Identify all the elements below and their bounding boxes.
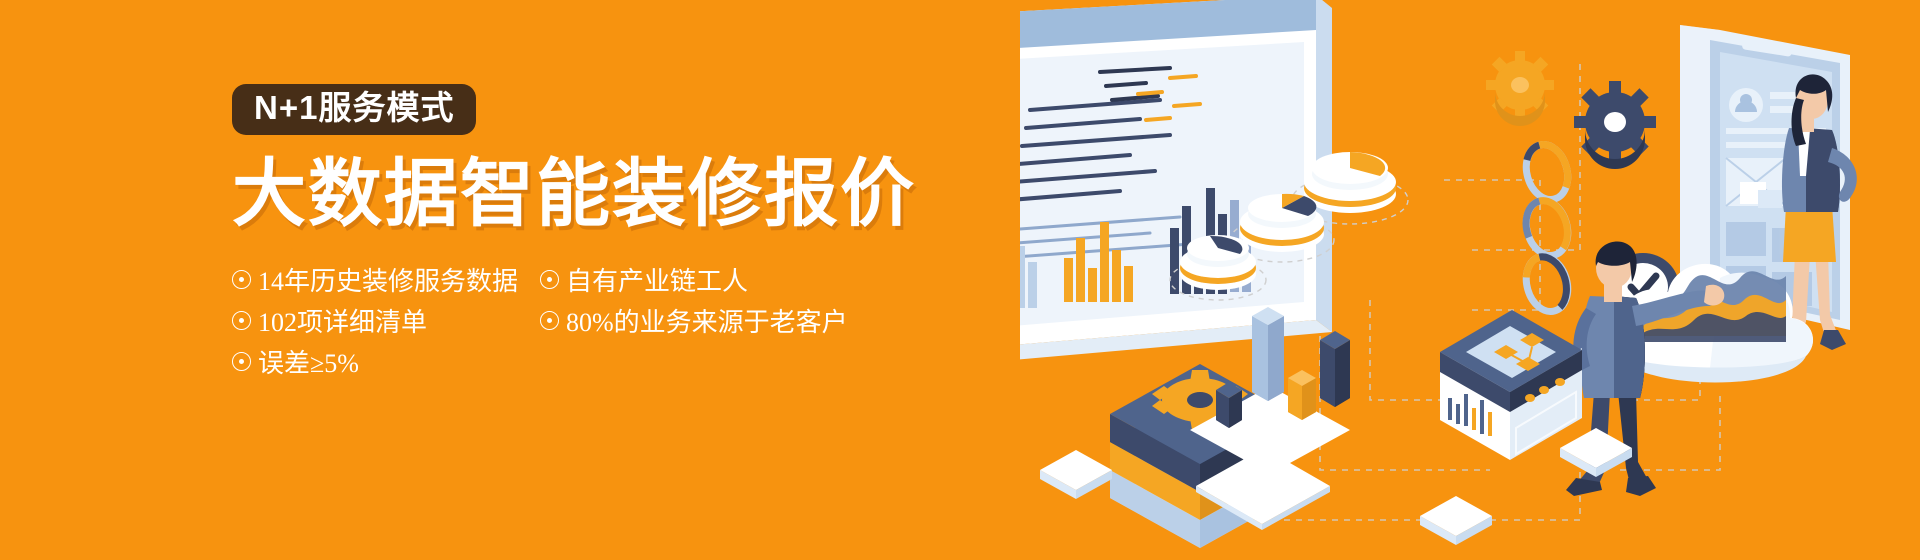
list-item: 自有产业链工人 [540,261,952,298]
feature-list: 14年历史装修服务数据 自有产业链工人 102项详细清单 80%的业务来源于老客… [232,259,952,382]
donut-ring-3 [1520,252,1574,317]
list-item-label: 14年历史装修服务数据 [258,261,518,298]
list-item: 102项详细清单 [232,302,540,339]
circled-dot-icon [540,311,559,330]
list-item: 误差≥5% [232,343,540,380]
banner-copy: N+1服务模式 大数据智能装修报价 14年历史装修服务数据 自有产业链工人 10… [232,84,952,382]
phone-image-placeholder [1726,158,1786,208]
server-block [1440,310,1582,460]
list-item: 14年历史装修服务数据 [232,261,540,298]
circled-dot-icon [540,270,559,289]
donut-ring-1 [1520,140,1574,205]
circled-dot-icon [232,352,251,371]
circled-dot-icon [232,311,251,330]
gear-navy [1574,81,1656,169]
list-item-label: 自有产业链工人 [566,261,748,298]
gear-amber [1486,51,1554,126]
list-item: 80%的业务来源于老客户 [540,302,952,339]
page-title: 大数据智能装修报价 [232,155,952,233]
browser-window-dashboard [1020,0,1332,364]
list-item-label: 80%的业务来源于老客户 [566,302,848,339]
service-model-badge: N+1服务模式 [232,84,476,135]
illustration [1020,0,1920,560]
promo-banner: N+1服务模式 大数据智能装修报价 14年历史装修服务数据 自有产业链工人 10… [0,0,1920,560]
list-item-label: 误差≥5% [258,343,359,380]
circled-dot-icon [232,270,251,289]
list-item-label: 102项详细清单 [258,302,427,339]
